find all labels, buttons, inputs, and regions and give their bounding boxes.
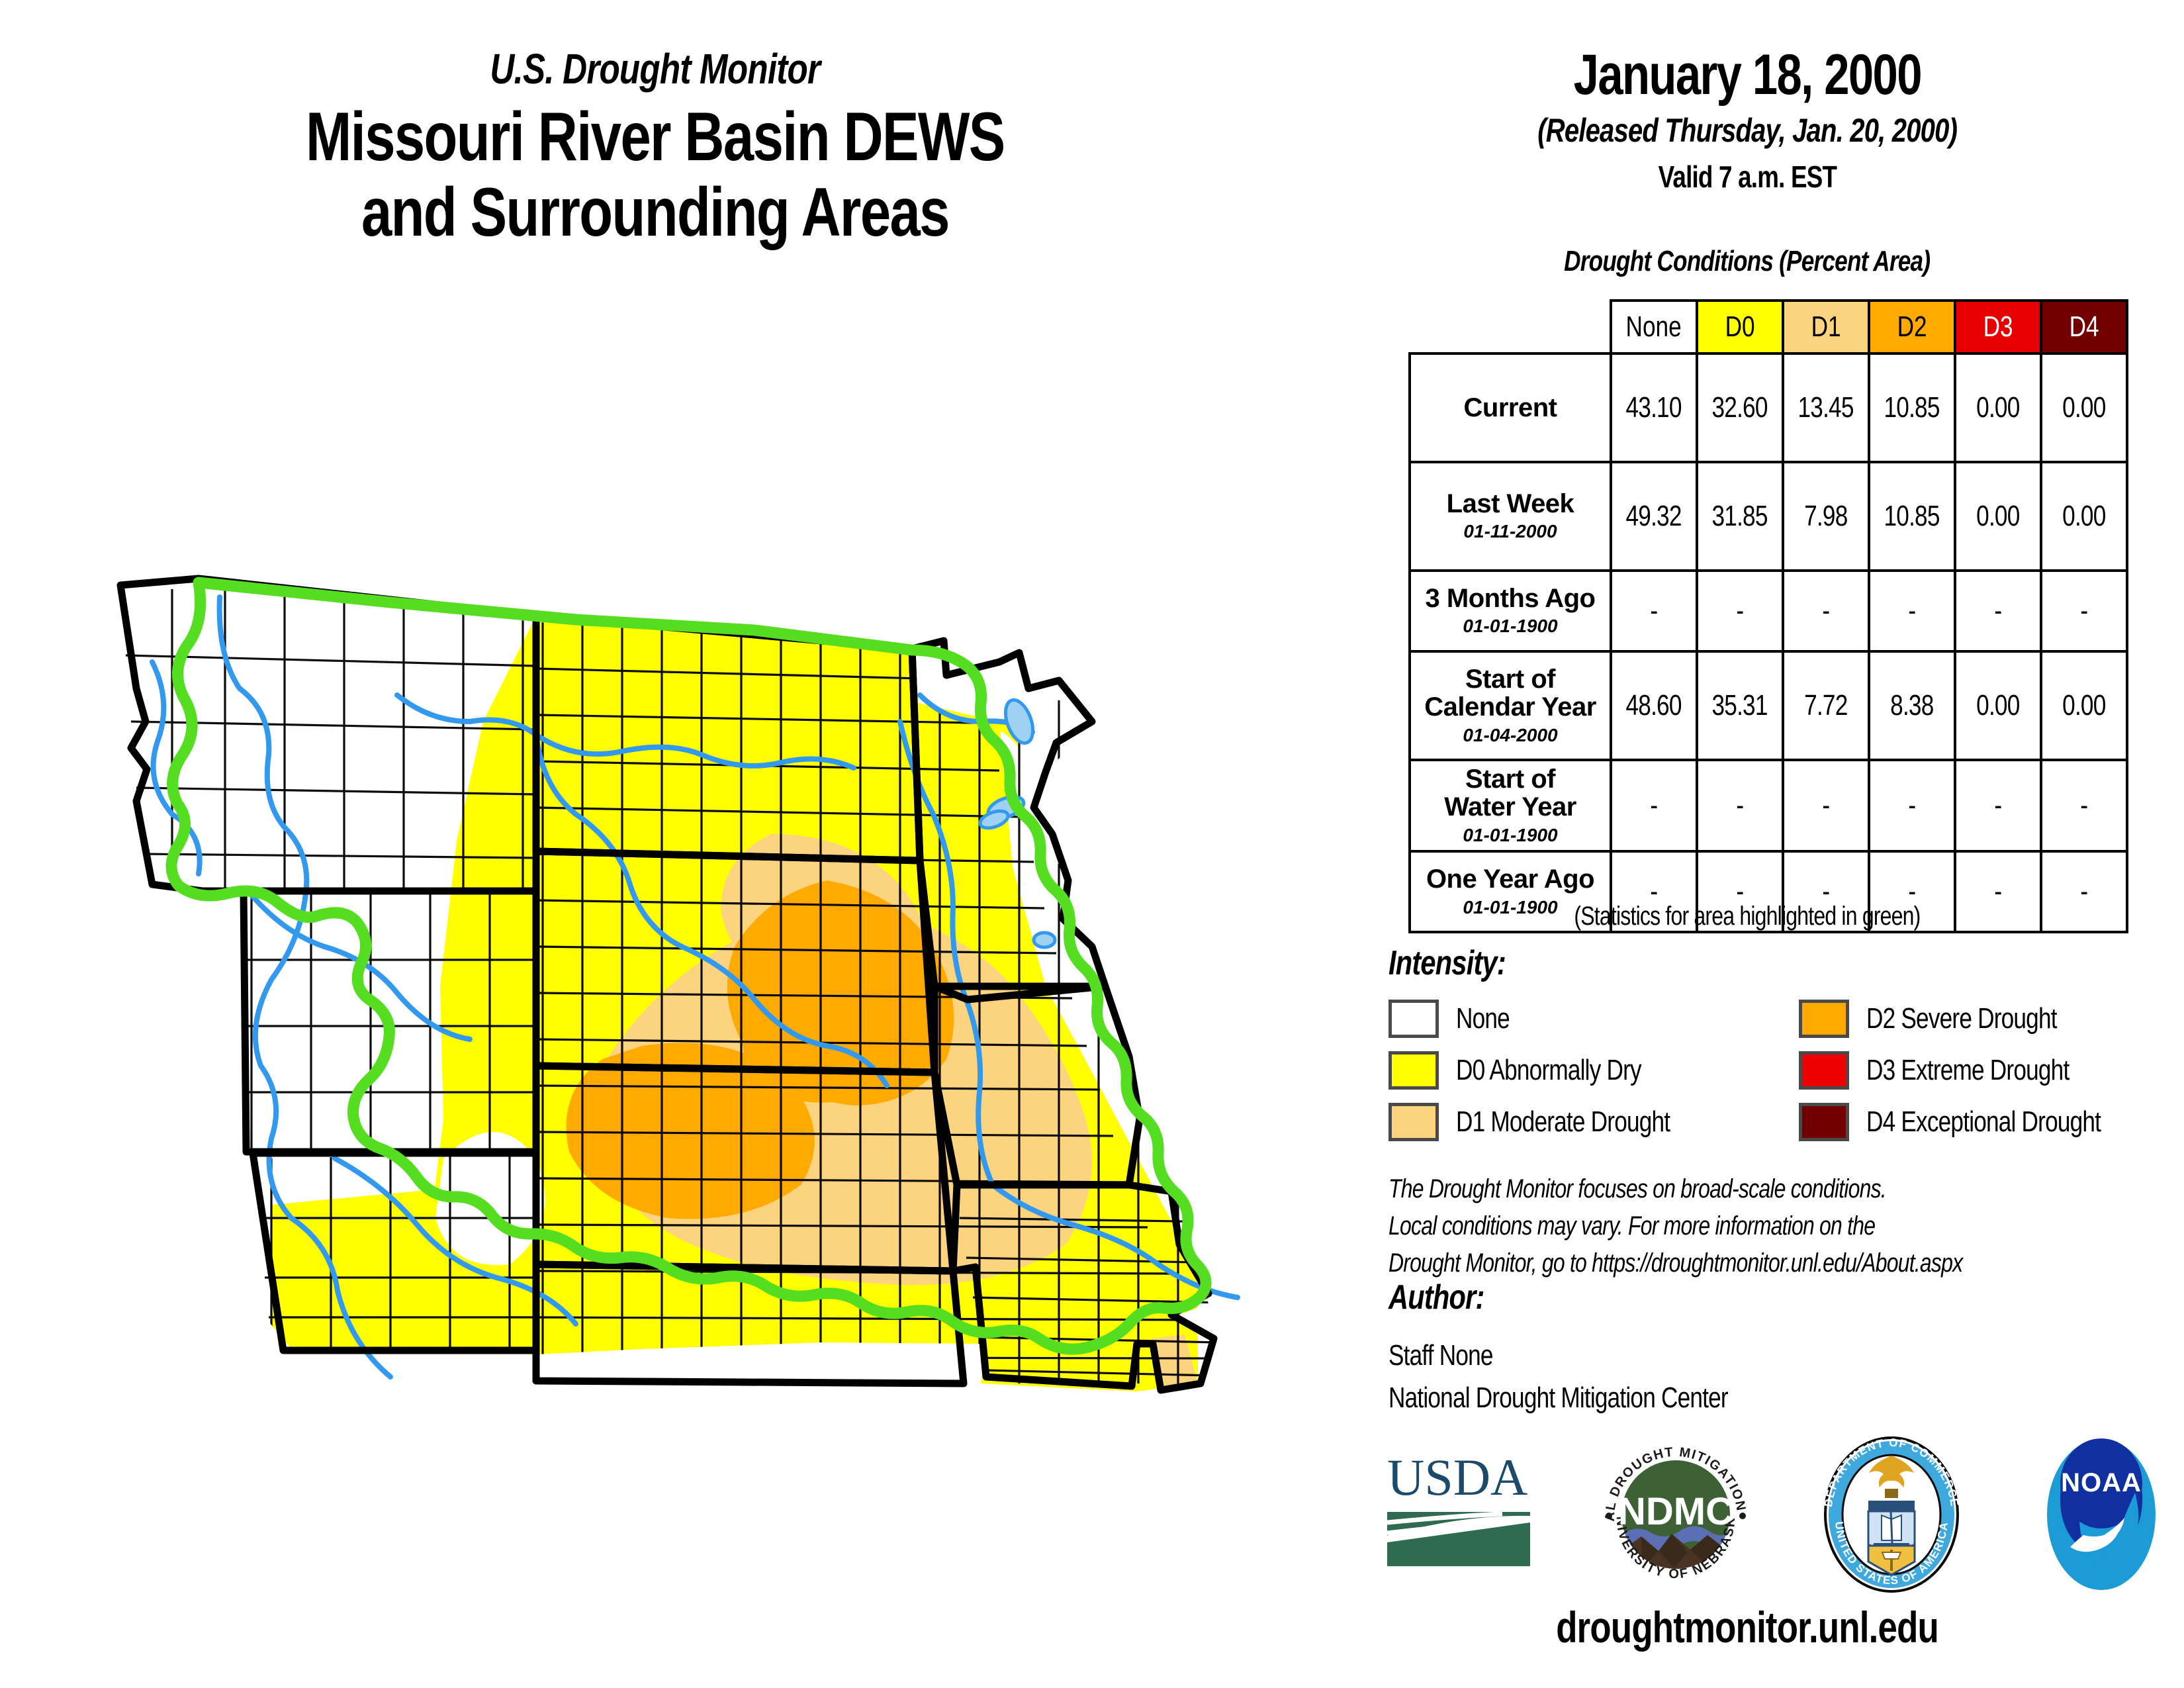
row-label-name: Last Week	[1414, 490, 1607, 518]
table-cell-d2: -	[1869, 571, 1955, 651]
legend-item: D4 Exceptional Drought	[1799, 1096, 2169, 1148]
legend-item: D1 Moderate Drought	[1388, 1096, 1799, 1148]
table-cell-d1: -	[1783, 571, 1869, 651]
intensity-legend: NoneD2 Severe DroughtD0 Abnormally DryD3…	[1388, 993, 2169, 1148]
svg-text:USDA: USDA	[1387, 1448, 1527, 1506]
row-label-date: 01-01-1900	[1414, 824, 1607, 847]
disclaimer-line-3: Drought Monitor, go to https://droughtmo…	[1388, 1244, 2183, 1282]
table-cell-d2: 10.85	[1869, 462, 1955, 571]
row-label: Current	[1410, 353, 1611, 462]
svg-text:NOAA: NOAA	[2061, 1468, 2142, 1497]
table-cell-d1: 7.98	[1783, 462, 1869, 571]
usda-logo: USDA	[1383, 1448, 1535, 1581]
noaa-logo: NOAA	[2025, 1432, 2177, 1597]
table-cell-d4: -	[2041, 760, 2127, 851]
row-label-name: Start ofWater Year	[1414, 765, 1607, 821]
table-cell-d0: -	[1697, 760, 1783, 851]
table-row: Start ofCalendar Year01-04-200048.6035.3…	[1410, 651, 2127, 760]
table-cell-none: -	[1611, 760, 1697, 851]
table-cell-none: 49.32	[1611, 462, 1697, 571]
row-label-date: 01-01-1900	[1414, 615, 1607, 637]
date-block: January 18, 2000 (Released Thursday, Jan…	[1317, 46, 2177, 192]
row-label-name: Current	[1414, 394, 1607, 422]
table-cell-d3: -	[1955, 760, 2041, 851]
table-cell-d3: 0.00	[1955, 353, 2041, 462]
svg-text:NDMC: NDMC	[1618, 1490, 1733, 1533]
table-cell-d1: 7.72	[1783, 651, 1869, 760]
statistics-note: (Statistics for area highlighted in gree…	[1317, 902, 2177, 931]
legend-label: D4 Exceptional Drought	[1866, 1105, 2160, 1139]
ndmc-logo: NATIONAL DROUGHT MITIGATION CENTER UNIVE…	[1593, 1432, 1758, 1597]
table-cell-d4: 0.00	[2041, 651, 2127, 760]
legend-swatch	[1388, 1103, 1439, 1141]
table-cell-none: 43.10	[1611, 353, 1697, 462]
table-cell-d1: -	[1783, 760, 1869, 851]
table-cell-d4: -	[2041, 571, 2127, 651]
disclaimer-line-2: Local conditions may vary. For more info…	[1388, 1207, 2183, 1244]
table-cell-none: 48.60	[1611, 651, 1697, 760]
author-org: National Drought Mitigation Center	[1388, 1377, 1813, 1419]
legend-label: None	[1456, 1002, 1523, 1035]
table-row: Current43.1032.6013.4510.850.000.00	[1410, 353, 2127, 462]
table-header-row: None D0 D1 D2 D3 D4	[1410, 301, 2127, 353]
table-header-spacer	[1410, 301, 1611, 353]
table-cell-d3: 0.00	[1955, 462, 2041, 571]
column-header-none: None	[1611, 301, 1697, 353]
legend-label: D3 Extreme Drought	[1866, 1054, 2120, 1087]
legend-label: D2 Severe Drought	[1866, 1002, 2105, 1035]
legend-swatch	[1388, 1000, 1439, 1038]
table-cell-d1: 13.45	[1783, 353, 1869, 462]
legend-label: D1 Moderate Drought	[1456, 1105, 1723, 1139]
legend-swatch	[1799, 1103, 1849, 1141]
disclaimer-line-1: The Drought Monitor focuses on broad-sca…	[1388, 1170, 2183, 1207]
author-name: Staff None	[1388, 1335, 1813, 1377]
drought-map-svg[interactable]	[73, 523, 1330, 1443]
title-block: U.S. Drought Monitor Missouri River Basi…	[0, 48, 1310, 251]
row-label: Last Week01-11-2000	[1410, 462, 1611, 571]
row-label-name: 3 Months Ago	[1414, 585, 1607, 612]
drought-conditions-table: None D0 D1 D2 D3 D4 Current43.1032.6013.…	[1408, 299, 2128, 933]
partner-logos: USDA NATIONAL DROUGHT MITIGATION CENTER …	[1383, 1442, 2177, 1587]
table-cell-d3: 0.00	[1955, 651, 2041, 760]
row-label-name: One Year Ago	[1414, 865, 1607, 893]
column-header-d4: D4	[2041, 301, 2127, 353]
page-title-line1: Missouri River Basin DEWS	[0, 99, 1310, 175]
row-label: Start ofWater Year01-01-1900	[1410, 760, 1611, 851]
column-header-d2: D2	[1869, 301, 1955, 353]
table-cell-d4: 0.00	[2041, 353, 2127, 462]
legend-swatch	[1388, 1051, 1439, 1090]
column-header-d0: D0	[1697, 301, 1783, 353]
table-cell-d3: -	[1955, 571, 2041, 651]
doc-logo: DEPARTMENT OF COMMERCE UNITED STATES OF …	[1815, 1432, 1968, 1597]
row-label-date: 01-04-2000	[1414, 724, 1607, 747]
legend-label: D0 Abnormally Dry	[1456, 1054, 1688, 1087]
legend-item: D2 Severe Drought	[1799, 993, 2169, 1045]
valid-time: Valid 7 a.m. EST	[1317, 162, 2177, 192]
released-date: (Released Thursday, Jan. 20, 2000)	[1317, 114, 2177, 147]
column-header-d3: D3	[1955, 301, 2041, 353]
drought-map[interactable]	[73, 523, 1330, 1443]
table-row: 3 Months Ago01-01-1900------	[1410, 571, 2127, 651]
valid-date: January 18, 2000	[1317, 46, 2177, 103]
page-title-line2: and Surrounding Areas	[0, 175, 1310, 250]
table-caption: Drought Conditions (Percent Area)	[1317, 245, 2177, 278]
table-cell-d0: -	[1697, 571, 1783, 651]
legend-swatch	[1799, 1051, 1849, 1090]
table-cell-d0: 35.31	[1697, 651, 1783, 760]
site-url: droughtmonitor.unl.edu	[1317, 1602, 2177, 1652]
table-cell-d2: 10.85	[1869, 353, 1955, 462]
author-info: Staff None National Drought Mitigation C…	[1388, 1335, 1813, 1419]
author-heading: Author:	[1388, 1278, 1508, 1317]
row-label: Start ofCalendar Year01-04-2000	[1410, 651, 1611, 760]
table-cell-d4: 0.00	[2041, 462, 2127, 571]
table-cell-d0: 32.60	[1697, 353, 1783, 462]
legend-item: D0 Abnormally Dry	[1388, 1045, 1799, 1096]
row-label-name: Start ofCalendar Year	[1414, 665, 1607, 722]
table-row: Start ofWater Year01-01-1900------	[1410, 760, 2127, 851]
table-cell-d0: 31.85	[1697, 462, 1783, 571]
table-cell-none: -	[1611, 571, 1697, 651]
legend-item: None	[1388, 993, 1799, 1045]
intensity-heading: Intensity:	[1388, 943, 1535, 983]
legend-swatch	[1799, 1000, 1849, 1038]
row-label-date: 01-11-2000	[1414, 520, 1607, 543]
table-cell-d2: -	[1869, 760, 1955, 851]
disclaimer-text: The Drought Monitor focuses on broad-sca…	[1388, 1170, 2183, 1282]
table-body: Current43.1032.6013.4510.850.000.00Last …	[1410, 353, 2127, 932]
column-header-d1: D1	[1783, 301, 1869, 353]
table-cell-d2: 8.38	[1869, 651, 1955, 760]
drought-monitor-kicker: U.S. Drought Monitor	[0, 48, 1310, 90]
legend-item: D3 Extreme Drought	[1799, 1045, 2169, 1096]
table-row: Last Week01-11-200049.3231.857.9810.850.…	[1410, 462, 2127, 571]
row-label: 3 Months Ago01-01-1900	[1410, 571, 1611, 651]
